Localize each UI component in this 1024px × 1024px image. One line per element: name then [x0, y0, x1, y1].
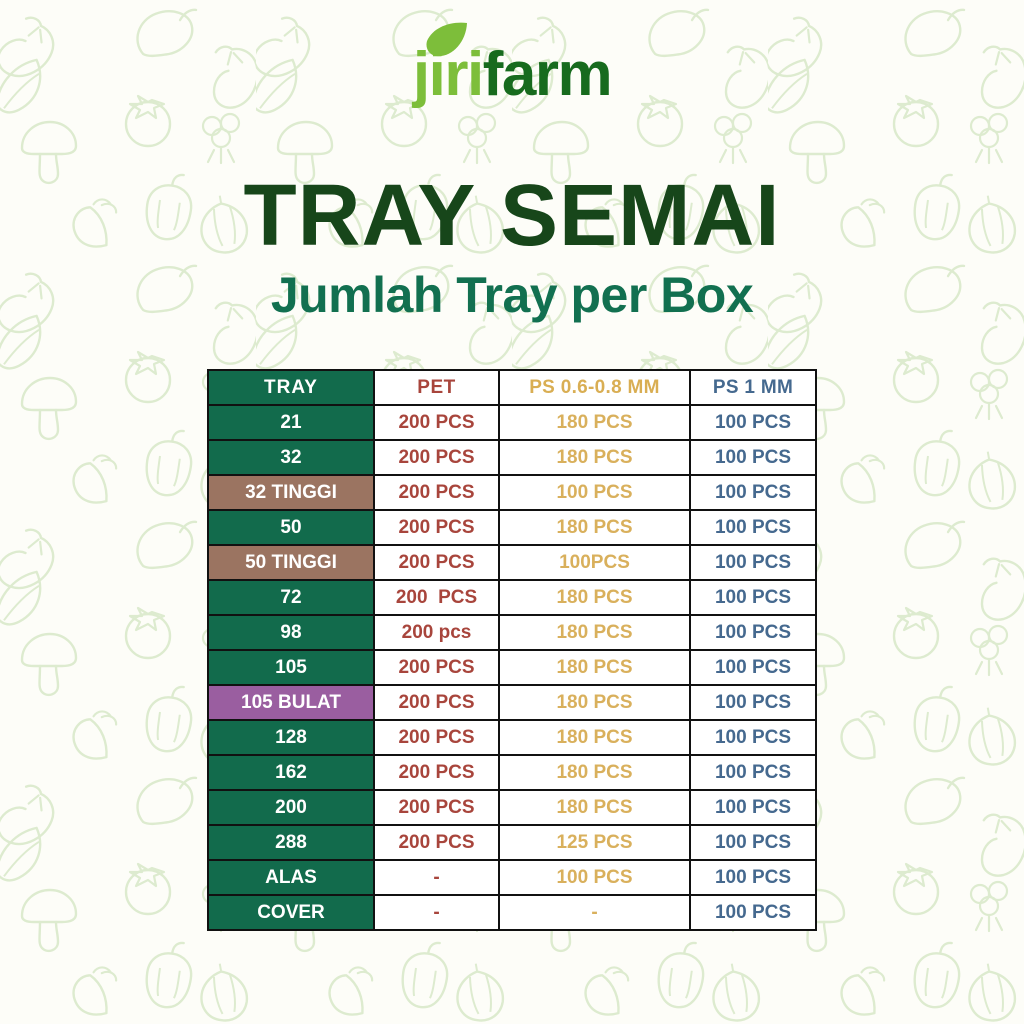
- cell-ps-06-08-mm: 100 PCS: [499, 860, 690, 895]
- table-row: 50 TINGGI200 PCS100PCS100 PCS: [208, 545, 816, 580]
- cell-tray-label: 105 BULAT: [208, 685, 374, 720]
- infographic-page: jirifarm TRAY SEMAI Jumlah Tray per Box …: [0, 0, 1024, 1024]
- tray-per-box-table-wrapper: TRAY PET PS 0.6-0.8 MM PS 1 MM 21200 PCS…: [207, 369, 815, 931]
- table-row: 200200 PCS180 PCS100 PCS: [208, 790, 816, 825]
- cell-ps-1-mm: 100 PCS: [690, 545, 816, 580]
- cell-ps-06-08-mm: 125 PCS: [499, 825, 690, 860]
- cell-ps-1-mm: 100 PCS: [690, 860, 816, 895]
- table-row: 98200 pcs180 PCS100 PCS: [208, 615, 816, 650]
- cell-ps-06-08-mm: 180 PCS: [499, 615, 690, 650]
- cell-ps-1-mm: 100 PCS: [690, 755, 816, 790]
- table-row: COVER--100 PCS: [208, 895, 816, 930]
- cell-pet: 200 PCS: [374, 650, 499, 685]
- column-header-tray: TRAY: [208, 370, 374, 405]
- cell-tray-label: 98: [208, 615, 374, 650]
- cell-ps-06-08-mm: 180 PCS: [499, 720, 690, 755]
- cell-tray-label: 105: [208, 650, 374, 685]
- cell-ps-1-mm: 100 PCS: [690, 825, 816, 860]
- cell-tray-label: 200: [208, 790, 374, 825]
- table-row: 105200 PCS180 PCS100 PCS: [208, 650, 816, 685]
- cell-pet: 200 PCS: [374, 510, 499, 545]
- table-row: 162200 PCS180 PCS100 PCS: [208, 755, 816, 790]
- cell-pet: 200 PCS: [374, 685, 499, 720]
- cell-tray-label: 21: [208, 405, 374, 440]
- table-row: 21200 PCS180 PCS100 PCS: [208, 405, 816, 440]
- page-subtitle: Jumlah Tray per Box: [0, 270, 1024, 320]
- column-header-ps-1-mm: PS 1 MM: [690, 370, 816, 405]
- cell-tray-label: 32: [208, 440, 374, 475]
- tray-per-box-table: TRAY PET PS 0.6-0.8 MM PS 1 MM 21200 PCS…: [207, 369, 817, 931]
- cell-pet: 200 PCS: [374, 440, 499, 475]
- column-header-ps-06-08-mm: PS 0.6-0.8 MM: [499, 370, 690, 405]
- table-header-row: TRAY PET PS 0.6-0.8 MM PS 1 MM: [208, 370, 816, 405]
- cell-tray-label: COVER: [208, 895, 374, 930]
- table-row: 32 TINGGI200 PCS100 PCS100 PCS: [208, 475, 816, 510]
- table-row: 128200 PCS180 PCS100 PCS: [208, 720, 816, 755]
- cell-tray-label: ALAS: [208, 860, 374, 895]
- cell-pet: 200 PCS: [374, 580, 499, 615]
- cell-ps-1-mm: 100 PCS: [690, 685, 816, 720]
- cell-pet: 200 PCS: [374, 545, 499, 580]
- logo-farm: farm: [483, 40, 611, 109]
- cell-pet: 200 pcs: [374, 615, 499, 650]
- cell-pet: -: [374, 860, 499, 895]
- cell-ps-1-mm: 100 PCS: [690, 615, 816, 650]
- cell-ps-06-08-mm: 180 PCS: [499, 405, 690, 440]
- table-body: 21200 PCS180 PCS100 PCS32200 PCS180 PCS1…: [208, 405, 816, 930]
- table-header: TRAY PET PS 0.6-0.8 MM PS 1 MM: [208, 370, 816, 405]
- cell-ps-1-mm: 100 PCS: [690, 475, 816, 510]
- table-row: 32200 PCS180 PCS100 PCS: [208, 440, 816, 475]
- page-title: TRAY SEMAI: [0, 172, 1024, 259]
- table-row: 50200 PCS180 PCS100 PCS: [208, 510, 816, 545]
- cell-tray-label: 288: [208, 825, 374, 860]
- table-row: 72200 PCS180 PCS100 PCS: [208, 580, 816, 615]
- table-row: ALAS-100 PCS100 PCS: [208, 860, 816, 895]
- cell-tray-label: 50: [208, 510, 374, 545]
- cell-pet: 200 PCS: [374, 825, 499, 860]
- cell-ps-06-08-mm: 180 PCS: [499, 580, 690, 615]
- table-row: 288200 PCS125 PCS100 PCS: [208, 825, 816, 860]
- cell-pet: 200 PCS: [374, 790, 499, 825]
- cell-ps-1-mm: 100 PCS: [690, 405, 816, 440]
- cell-tray-label: 32 TINGGI: [208, 475, 374, 510]
- cell-ps-1-mm: 100 PCS: [690, 650, 816, 685]
- leaf-icon: [425, 21, 469, 57]
- cell-tray-label: 162: [208, 755, 374, 790]
- cell-tray-label: 50 TINGGI: [208, 545, 374, 580]
- cell-ps-06-08-mm: 100 PCS: [499, 475, 690, 510]
- cell-ps-1-mm: 100 PCS: [690, 510, 816, 545]
- cell-ps-06-08-mm: 180 PCS: [499, 790, 690, 825]
- cell-pet: 200 PCS: [374, 405, 499, 440]
- cell-pet: 200 PCS: [374, 755, 499, 790]
- cell-ps-06-08-mm: -: [499, 895, 690, 930]
- cell-ps-06-08-mm: 180 PCS: [499, 510, 690, 545]
- cell-pet: 200 PCS: [374, 720, 499, 755]
- cell-ps-06-08-mm: 180 PCS: [499, 755, 690, 790]
- cell-tray-label: 128: [208, 720, 374, 755]
- cell-ps-06-08-mm: 180 PCS: [499, 685, 690, 720]
- logo-text: jirifarm: [413, 44, 611, 106]
- cell-ps-1-mm: 100 PCS: [690, 580, 816, 615]
- cell-ps-06-08-mm: 180 PCS: [499, 650, 690, 685]
- cell-ps-1-mm: 100 PCS: [690, 720, 816, 755]
- brand-logo: jirifarm: [0, 44, 1024, 136]
- cell-pet: -: [374, 895, 499, 930]
- cell-ps-1-mm: 100 PCS: [690, 440, 816, 475]
- cell-ps-06-08-mm: 100PCS: [499, 545, 690, 580]
- cell-tray-label: 72: [208, 580, 374, 615]
- column-header-pet: PET: [374, 370, 499, 405]
- cell-pet: 200 PCS: [374, 475, 499, 510]
- table-row: 105 BULAT200 PCS180 PCS100 PCS: [208, 685, 816, 720]
- cell-ps-06-08-mm: 180 PCS: [499, 440, 690, 475]
- cell-ps-1-mm: 100 PCS: [690, 895, 816, 930]
- cell-ps-1-mm: 100 PCS: [690, 790, 816, 825]
